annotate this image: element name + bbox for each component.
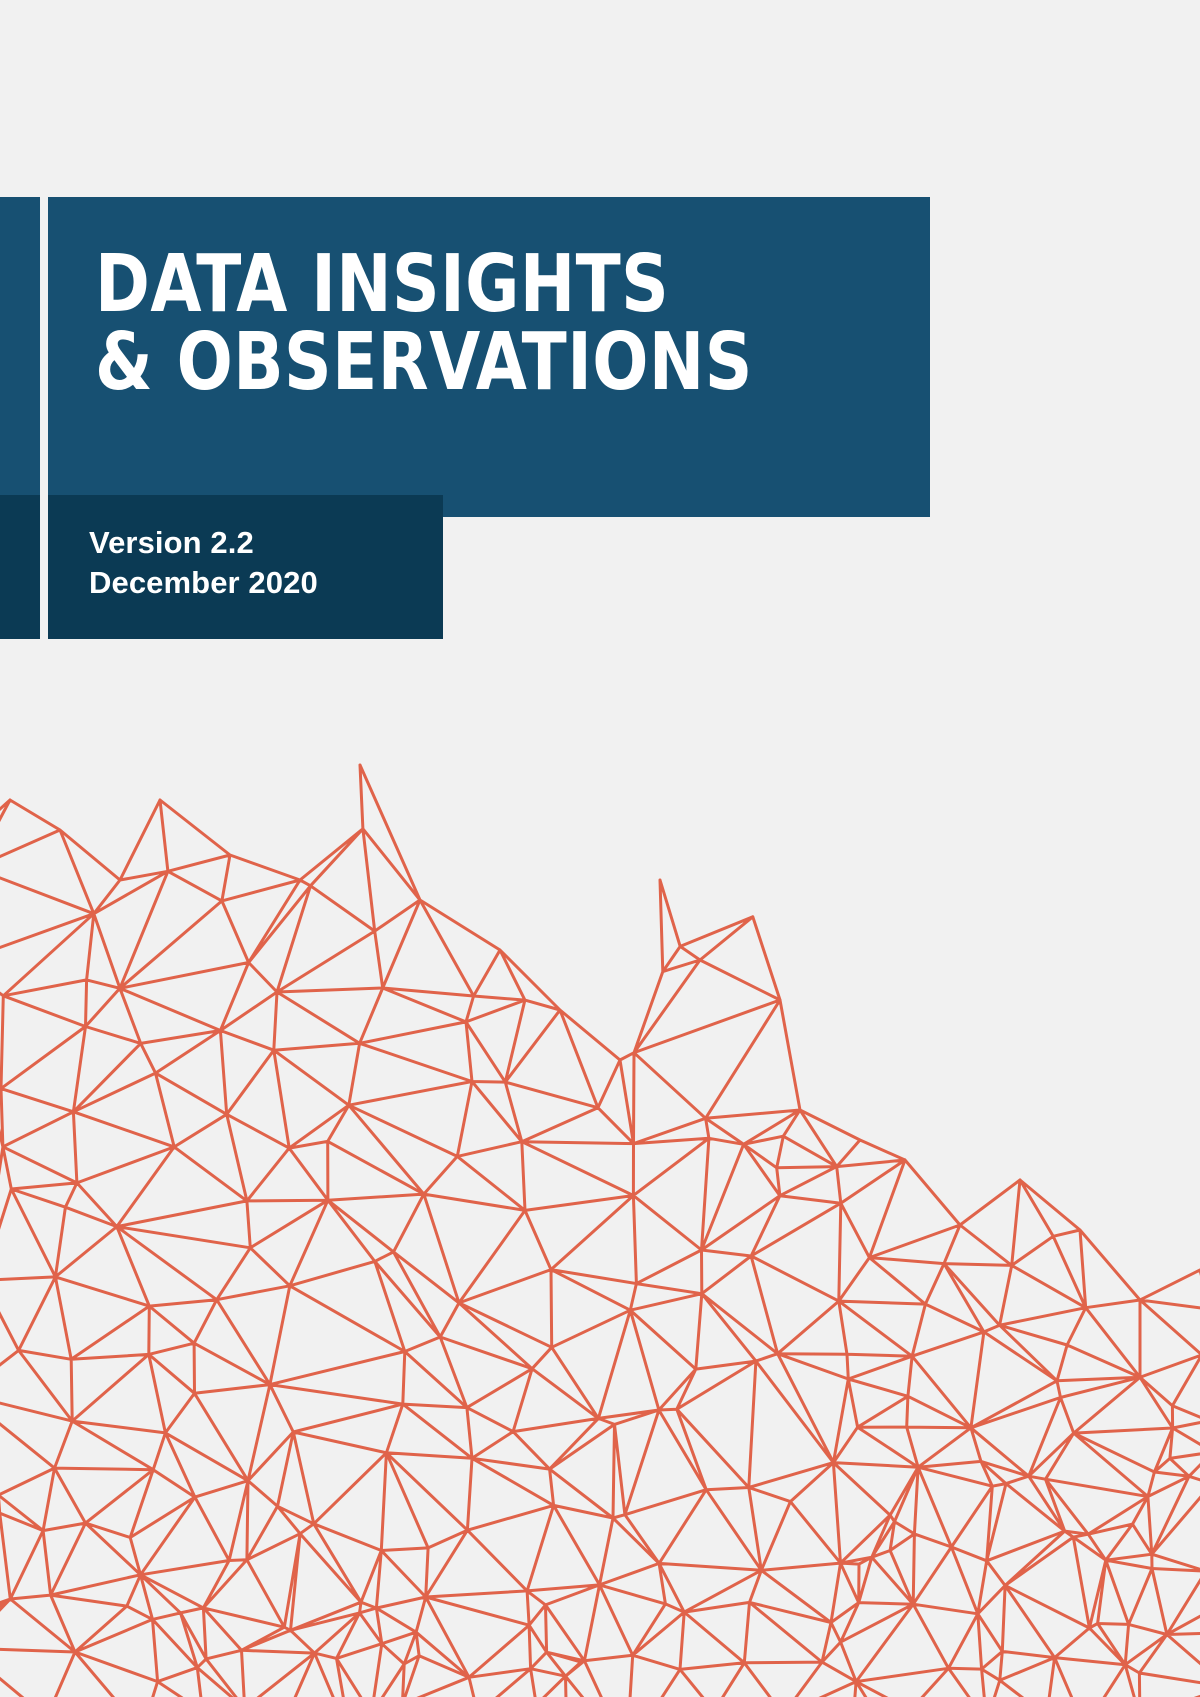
document-cover-page: DATA INSIGHTS & OBSERVATIONS Version 2.2… (0, 0, 1200, 1697)
title-banner: DATA INSIGHTS & OBSERVATIONS (48, 197, 930, 517)
date-label: December 2020 (89, 563, 443, 603)
page-title: DATA INSIGHTS & OBSERVATIONS (95, 245, 872, 401)
left-accent-column-top (0, 197, 40, 495)
version-block: Version 2.2 December 2020 (48, 495, 443, 639)
vertical-gutter-rule (40, 197, 48, 639)
version-label: Version 2.2 (89, 523, 443, 563)
mesh-edge-path (0, 765, 1200, 1697)
left-accent-column-bottom (0, 495, 40, 639)
